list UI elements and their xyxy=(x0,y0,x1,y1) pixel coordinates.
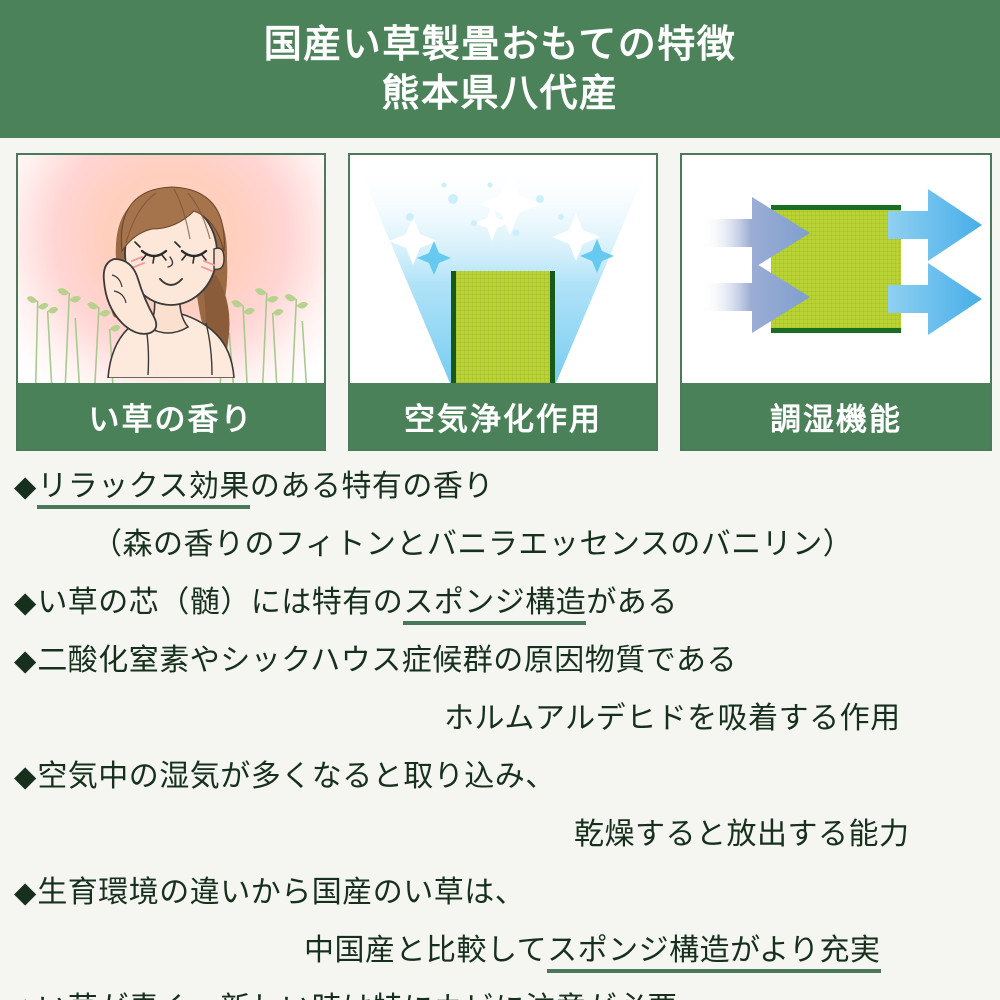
page-header: 国産い草製畳おもての特徴 熊本県八代産 xyxy=(0,0,1000,138)
bullet-text: （森の香りのフィトンとバニラエッセンスのバニリン） xyxy=(92,530,853,560)
feature-card-air-purification[interactable]: 空気浄化作用 xyxy=(348,153,658,451)
card-illustration-air-purify xyxy=(350,155,656,383)
bullet-line: ◆リラックス効果のある特有の香り xyxy=(14,472,986,530)
card-label-text-3: 調湿機能 xyxy=(770,394,902,439)
bullet-text: がある xyxy=(586,588,678,618)
feature-card-igusa-fragrance[interactable]: い草の香り xyxy=(16,153,326,451)
bullet-line: （森の香りのフィトンとバニラエッセンスのバニリン） xyxy=(14,530,986,588)
card-label-text-2: 空気浄化作用 xyxy=(404,394,602,439)
card-label-band-1: い草の香り xyxy=(18,383,324,449)
feature-bullet-list: ◆リラックス効果のある特有の香り（森の香りのフィトンとバニラエッセンスのバニリン… xyxy=(0,462,1000,1000)
card-illustration-woman xyxy=(18,155,324,383)
bullet-text: い草の芯（髄）には特有の xyxy=(37,588,403,618)
bullet-line: ◆空気中の湿気が多くなると取り込み、 xyxy=(14,762,986,820)
card-label-band-2: 空気浄化作用 xyxy=(350,383,656,449)
diamond-bullet-icon: ◆ xyxy=(14,878,36,907)
bullet-line: ◆い草の芯（髄）には特有のスポンジ構造がある xyxy=(14,588,986,646)
diamond-bullet-icon: ◆ xyxy=(14,588,36,617)
diamond-bullet-icon: ◆ xyxy=(14,646,36,675)
bullet-text: 乾燥すると放出する能力 xyxy=(574,820,910,850)
bullet-line: 乾燥すると放出する能力 xyxy=(14,820,986,878)
bullet-text: ホルムアルデヒドを吸着する作用 xyxy=(444,704,901,734)
page-title-line-1: 国産い草製畳おもての特徴 xyxy=(264,21,736,69)
bullet-text: 中国産と比較して xyxy=(304,936,547,966)
diamond-bullet-icon: ◆ xyxy=(14,472,36,501)
bullet-text: 生育環境の違いから国産のい草は、 xyxy=(37,878,525,908)
bullet-text: 二酸化窒素やシックハウス症候群の原因物質である xyxy=(37,646,737,676)
diamond-bullet-icon: ◆ xyxy=(14,994,36,1000)
feature-card-humidity-control[interactable]: 調湿機能 xyxy=(680,153,992,451)
diamond-bullet-icon: ◆ xyxy=(14,762,36,791)
bullet-line: ホルムアルデヒドを吸着する作用 xyxy=(14,704,986,762)
bullet-text: のある特有の香り xyxy=(250,472,494,502)
card-illustration-humidity xyxy=(682,155,990,383)
bullet-line: 中国産と比較してスポンジ構造がより充実 xyxy=(14,936,986,994)
tatami-mat-icon-2 xyxy=(451,271,555,383)
bullet-highlight-text: カビに注意 xyxy=(434,994,587,1000)
feature-card-row: い草の香り xyxy=(0,153,1000,451)
infographic-page: 国産い草製畳おもての特徴 熊本県八代産 xyxy=(0,0,1000,1000)
relaxing-woman-icon xyxy=(56,163,286,378)
bullet-highlight-text: リラックス効果 xyxy=(37,472,250,509)
page-title-line-2: 熊本県八代産 xyxy=(381,70,618,118)
bullet-line: ◆二酸化窒素やシックハウス症候群の原因物質である xyxy=(14,646,986,704)
humidity-arrow-icon xyxy=(682,155,990,383)
bullet-text: が必要 xyxy=(586,994,678,1000)
bullet-line: ◆い草が青く、新しい時は特にカビに注意が必要 xyxy=(14,994,986,1000)
bullet-highlight-text: スポンジ構造がより充実 xyxy=(547,936,880,973)
bullet-highlight-text: スポンジ構造 xyxy=(403,588,586,625)
card-label-text-1: い草の香り xyxy=(89,394,254,439)
card-label-band-3: 調湿機能 xyxy=(682,383,990,449)
bullet-text: 空気中の湿気が多くなると取り込み、 xyxy=(37,762,556,792)
bullet-line: ◆生育環境の違いから国産のい草は、 xyxy=(14,878,986,936)
bullet-text: い草が青く、新しい時は特に xyxy=(37,994,434,1000)
